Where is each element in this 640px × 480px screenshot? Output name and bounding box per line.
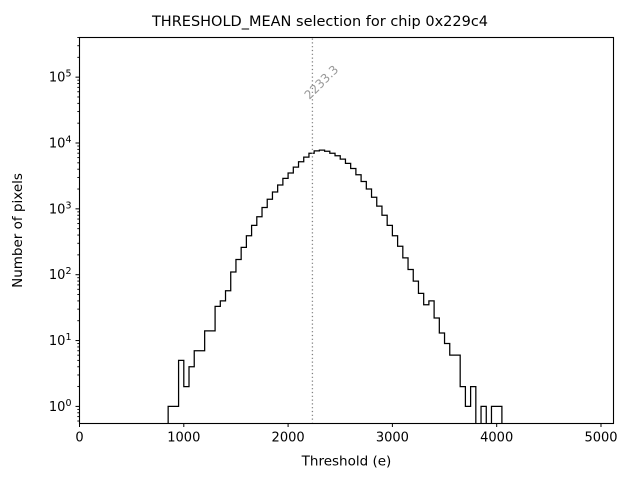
y-axis-label: Number of pixels [10, 173, 26, 288]
histogram-step-outline [168, 150, 502, 429]
x-tick-label: 2000 [272, 431, 305, 446]
x-tick-label: 4000 [480, 431, 513, 446]
matplotlib-figure: THRESHOLD_MEAN selection for chip 0x229c… [0, 0, 640, 480]
plot-area: 2233.3 010002000300040005000 10010110210… [0, 0, 640, 480]
threshold-mean-vline-group: 2233.3 [302, 39, 342, 423]
axes-frame [80, 38, 614, 424]
y-tick-label: 105 [49, 69, 72, 86]
axes-spines [80, 38, 614, 424]
x-axis-label: Threshold (e) [301, 454, 392, 470]
histogram-series [168, 150, 502, 429]
y-axis-ticks: 100101102103104105 [49, 38, 80, 422]
x-tick-label: 5000 [584, 431, 617, 446]
y-tick-label: 103 [49, 200, 72, 217]
y-tick-label: 104 [49, 134, 72, 151]
x-tick-label: 0 [75, 431, 83, 446]
x-axis-ticks: 010002000300040005000 [75, 424, 617, 446]
y-tick-label: 100 [49, 398, 72, 415]
y-tick-label: 102 [49, 266, 72, 283]
y-tick-label: 101 [49, 332, 72, 349]
x-tick-label: 3000 [376, 431, 409, 446]
threshold-mean-vline-label: 2233.3 [302, 63, 342, 103]
x-tick-label: 1000 [167, 431, 200, 446]
